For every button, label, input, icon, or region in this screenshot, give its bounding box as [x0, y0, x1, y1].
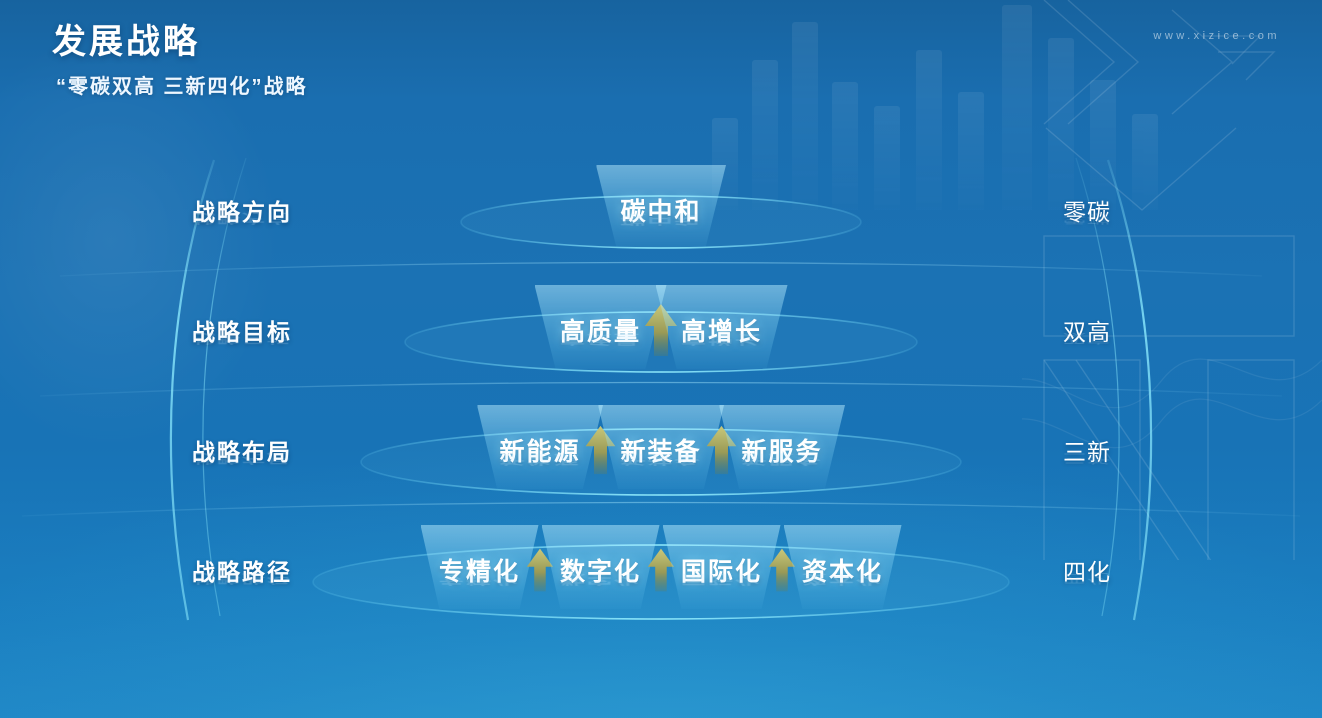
tier-row-4: 战略路径 战略路径 四化 四化 专精化 专精化	[0, 510, 1322, 630]
tier-right-label-reflection-4: 四化	[1063, 570, 1111, 589]
node-label-reflection: 专精化	[439, 571, 520, 589]
tier-right-label-4: 四化 四化	[1063, 553, 1111, 587]
tier-left-label-reflection-1: 战略方向	[192, 210, 292, 229]
page-title: 发展战略	[52, 22, 308, 62]
node-item[interactable]: 资本化 资本化	[802, 531, 883, 609]
node-item[interactable]: 高质量 高质量	[560, 291, 641, 369]
tier-row-1: 战略方向 战略方向 零碳 零碳 碳中和 碳中和	[0, 150, 1322, 270]
tier-left-label-reflection-4: 战略路径	[192, 570, 292, 589]
tier-nodes-4: 专精化 专精化	[439, 531, 883, 609]
node-item[interactable]: 国际化 国际化	[681, 531, 762, 609]
slide-canvas: 发展战略 “零碳双高 三新四化”战略 www.xizice.com	[0, 0, 1322, 718]
tier-left-label-reflection-3: 战略布局	[192, 450, 292, 469]
node-label: 国际化 国际化	[681, 552, 762, 588]
node-item[interactable]: 高增长 高增长	[681, 291, 762, 369]
node-item[interactable]: 新装备 新装备	[620, 411, 701, 489]
tier-right-label-3: 三新 三新	[1063, 433, 1111, 467]
node-label-reflection: 碳中和	[620, 211, 701, 229]
node-label-reflection: 资本化	[802, 571, 883, 589]
header: 发展战略 “零碳双高 三新四化”战略	[52, 22, 308, 99]
funnel-diagram: 战略方向 战略方向 零碳 零碳 碳中和 碳中和 战略目标	[0, 150, 1322, 670]
node-label: 新能源 新能源	[499, 432, 580, 468]
watermark-url: www.xizice.com	[1153, 30, 1280, 42]
tier-left-label-1: 战略方向 战略方向	[192, 193, 292, 227]
node-label: 数字化 数字化	[560, 552, 641, 588]
node-label: 资本化 资本化	[802, 552, 883, 588]
tier-row-2: 战略目标 战略目标 双高 双高 高质量 高质量	[0, 270, 1322, 390]
node-item[interactable]: 数字化 数字化	[560, 531, 641, 609]
node-item[interactable]: 碳中和 碳中和	[620, 171, 701, 249]
node-label: 新装备 新装备	[620, 432, 701, 468]
node-item[interactable]: 专精化 专精化	[439, 531, 520, 609]
node-label: 新服务 新服务	[742, 432, 823, 468]
node-label: 专精化 专精化	[439, 552, 520, 588]
tier-right-label-1: 零碳 零碳	[1063, 193, 1111, 227]
page-subtitle: “零碳双高 三新四化”战略	[56, 70, 308, 99]
tier-nodes-1: 碳中和 碳中和	[620, 171, 701, 249]
node-label-reflection: 新服务	[742, 451, 823, 469]
tier-nodes-2: 高质量 高质量	[560, 291, 762, 369]
node-label-reflection: 新装备	[620, 451, 701, 469]
tier-right-label-reflection-1: 零碳	[1063, 210, 1111, 229]
node-label: 高质量 高质量	[560, 312, 641, 348]
node-label-reflection: 高增长	[681, 331, 762, 349]
node-item[interactable]: 新能源 新能源	[499, 411, 580, 489]
tier-right-label-reflection-3: 三新	[1063, 450, 1111, 469]
node-label-reflection: 新能源	[499, 451, 580, 469]
tier-right-label-2: 双高 双高	[1063, 313, 1111, 347]
node-label-reflection: 数字化	[560, 571, 641, 589]
node-label-reflection: 国际化	[681, 571, 762, 589]
tier-left-label-2: 战略目标 战略目标	[192, 313, 292, 347]
tier-nodes-3: 新能源 新能源	[499, 411, 822, 489]
node-label: 碳中和 碳中和	[620, 192, 701, 228]
tier-left-label-3: 战略布局 战略布局	[192, 433, 292, 467]
tier-right-label-reflection-2: 双高	[1063, 330, 1111, 349]
node-label-reflection: 高质量	[560, 331, 641, 349]
tier-left-label-4: 战略路径 战略路径	[192, 553, 292, 587]
node-item[interactable]: 新服务 新服务	[742, 411, 823, 489]
tier-left-label-reflection-2: 战略目标	[192, 330, 292, 349]
tier-row-3: 战略布局 战略布局 三新 三新 新能源 新能源	[0, 390, 1322, 510]
node-label: 高增长 高增长	[681, 312, 762, 348]
